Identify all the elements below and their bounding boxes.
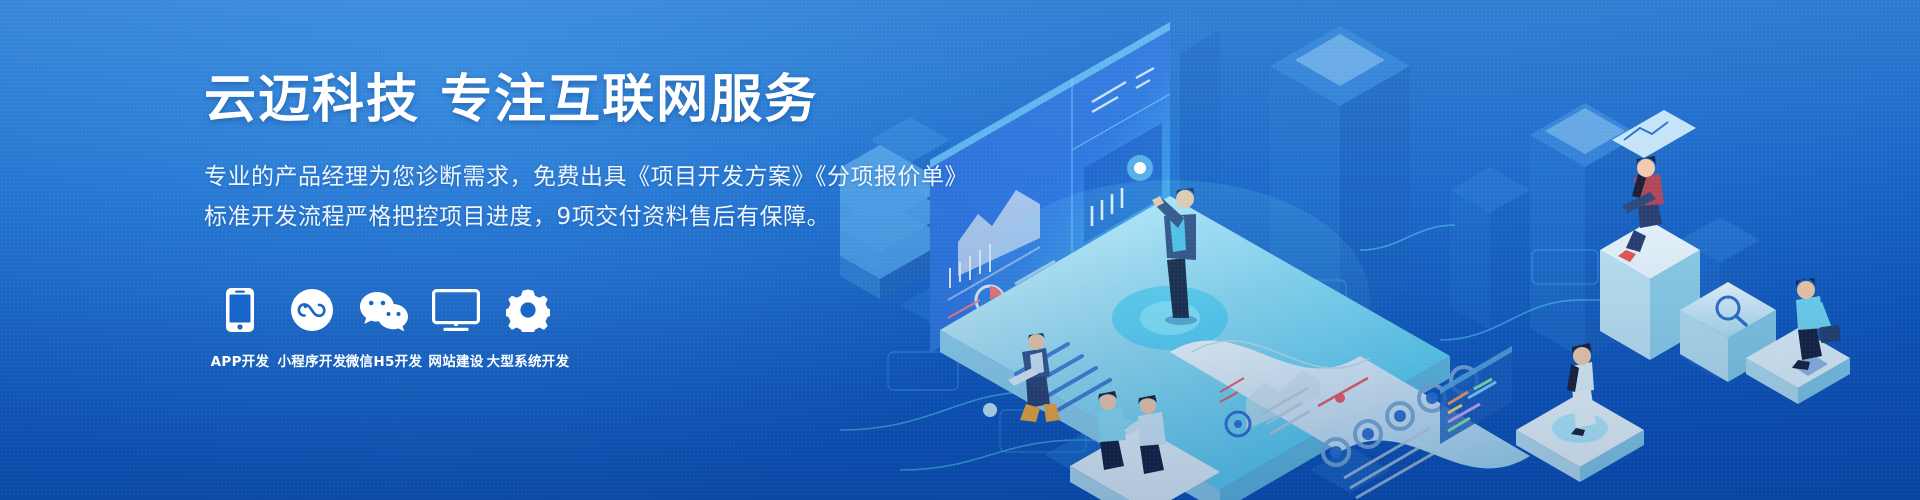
service-label: 微信H5开发 <box>346 350 423 370</box>
service-item-large-system[interactable]: 大型系统开发 <box>492 286 564 370</box>
hero-illustration <box>840 0 1920 500</box>
mini-program-icon <box>290 286 334 334</box>
service-label: 网站建设 <box>428 350 483 370</box>
gear-icon <box>506 286 550 334</box>
monitor-icon <box>432 286 480 334</box>
subtitle-line-2: 标准开发流程严格把控项目进度，9项交付资料售后有保障。 <box>204 197 904 237</box>
service-list: APP开发 小程序开发 <box>204 286 564 370</box>
service-item-wechat-h5[interactable]: 微信H5开发 <box>348 286 420 370</box>
mobile-phone-icon <box>225 286 255 334</box>
service-label: 小程序开发 <box>278 350 347 370</box>
service-item-app[interactable]: APP开发 <box>204 286 276 370</box>
page-title: 云迈科技 专注互联网服务 <box>204 72 904 129</box>
subtitle-line-1: 专业的产品经理为您诊断需求，免费出具《项目开发方案》《分项报价单》 <box>204 157 904 197</box>
hero-banner: 云迈科技 专注互联网服务 专业的产品经理为您诊断需求，免费出具《项目开发方案》《… <box>0 0 1920 500</box>
service-item-website[interactable]: 网站建设 <box>420 286 492 370</box>
service-label: 大型系统开发 <box>487 350 570 370</box>
service-label: APP开发 <box>211 350 270 370</box>
wechat-icon <box>358 286 410 334</box>
hero-subtitle: 专业的产品经理为您诊断需求，免费出具《项目开发方案》《分项报价单》 标准开发流程… <box>204 157 904 237</box>
hero-copy: 云迈科技 专注互联网服务 专业的产品经理为您诊断需求，免费出具《项目开发方案》《… <box>204 72 904 237</box>
service-item-mini-program[interactable]: 小程序开发 <box>276 286 348 370</box>
